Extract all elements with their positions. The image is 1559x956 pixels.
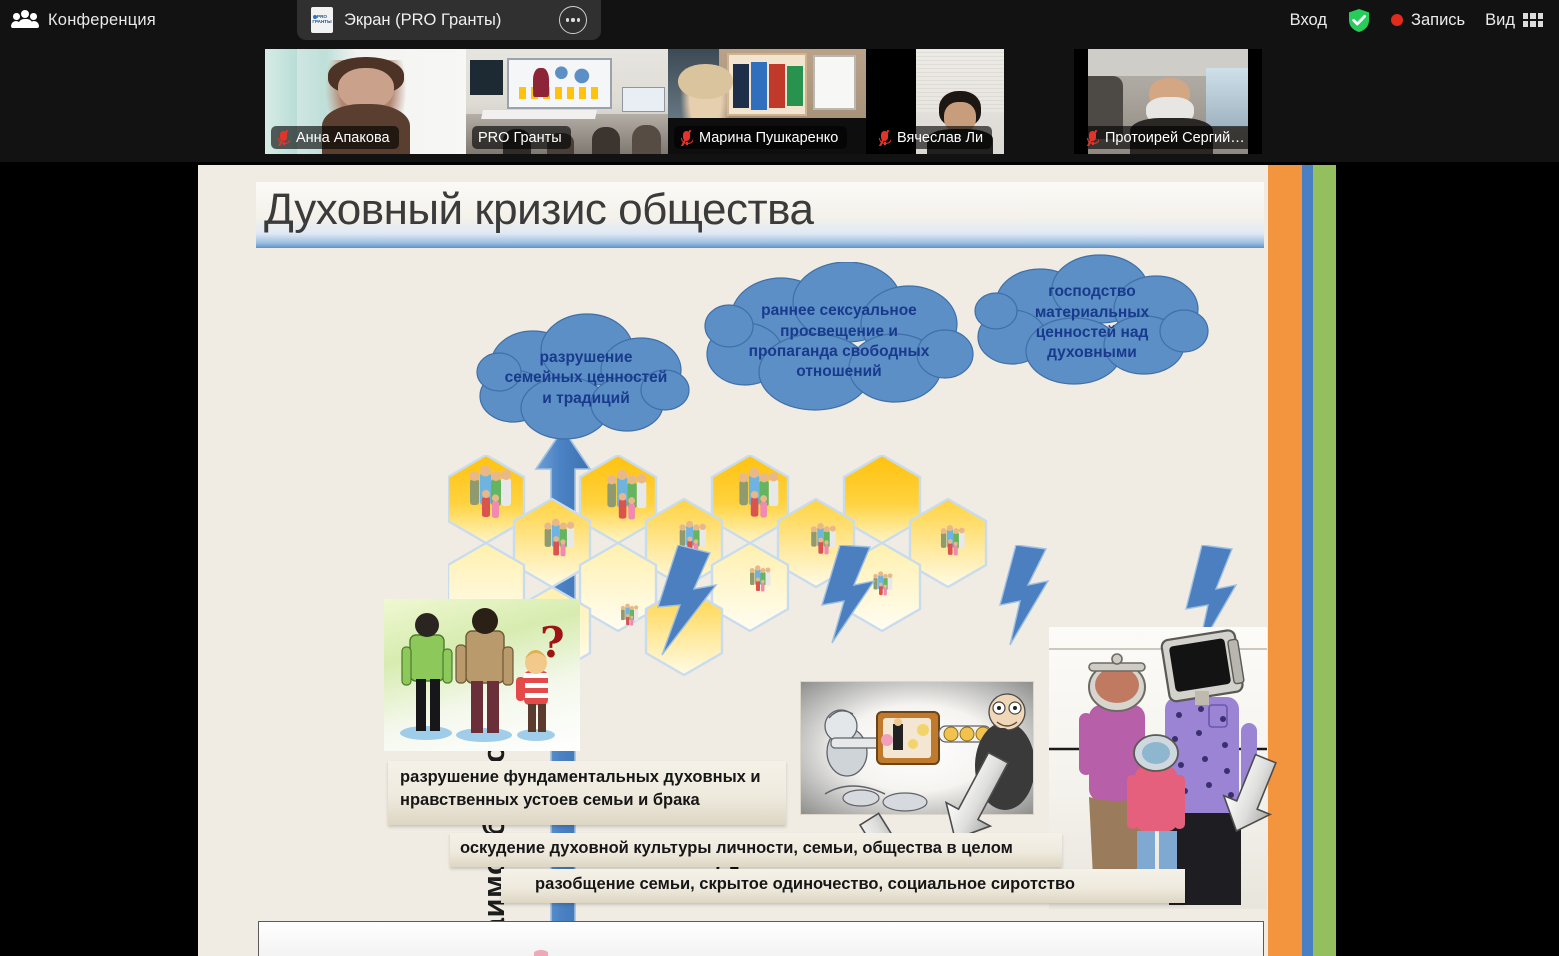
participant-tile-4[interactable]: Протоирей Сергий В…	[1074, 49, 1262, 154]
participant-tile-1[interactable]: PRO Гранты	[466, 49, 669, 154]
record-dot-icon	[1391, 14, 1403, 26]
meeting-label: Конференция	[48, 11, 156, 30]
image-tv-money	[800, 681, 1034, 815]
mic-off-icon	[1086, 130, 1099, 146]
top-toolbar-right: Вход Запись Вид	[1290, 0, 1559, 40]
record-label: Запись	[1411, 11, 1465, 30]
callout-foundations-text: разрушение фундаментальных духовных и нр…	[400, 766, 761, 812]
participant-name-badge-3: Вячеслав Ли	[872, 126, 992, 149]
shield-check-icon	[1347, 8, 1371, 33]
presentation-slide[interactable]: Духовный кризис общества взаимообусловле…	[198, 165, 1336, 956]
mic-off-icon	[680, 130, 693, 146]
cloud-family-values: разрушение семейных ценностей и традиций	[475, 310, 697, 447]
image-two-men-child: ?	[384, 599, 580, 751]
slide-edge-bar-orange	[1268, 165, 1302, 956]
people-icon	[12, 10, 38, 30]
participant-name-3: Вячеслав Ли	[897, 130, 983, 146]
svg-text:?: ?	[540, 618, 565, 667]
share-title: Экран (PRO Гранты)	[344, 11, 501, 30]
login-button[interactable]: Вход	[1290, 11, 1327, 30]
zoom-meeting-window: Конференция PRO ГРАНТЫ Экран (PRO Гранты…	[0, 0, 1559, 956]
view-button[interactable]: Вид	[1485, 11, 1543, 30]
shared-screen-stage: Духовный кризис общества взаимообусловле…	[0, 162, 1559, 956]
participant-name-badge-2: Марина Пушкаренко	[674, 126, 847, 149]
participant-name-0: Анна Апакова	[296, 130, 390, 146]
participant-filmstrip: Анна Апакова PRO Гранты	[0, 40, 1559, 162]
participant-name-badge-0: Анна Апакова	[271, 126, 399, 149]
cloud-family-values-text: разрушение семейных ценностей и традиций	[499, 348, 674, 409]
top-toolbar: Конференция PRO ГРАНТЫ Экран (PRO Гранты…	[0, 0, 1559, 40]
participant-name-badge-1: PRO Гранты	[472, 126, 571, 149]
cloud-sex-education-text: раннее сексуальное просвещение и пропага…	[743, 301, 936, 383]
participant-tile-3[interactable]: Вячеслав Ли	[866, 49, 1004, 154]
participant-tile-0[interactable]: Анна Апакова	[265, 49, 467, 154]
slide-edge-bar-blue	[1302, 165, 1313, 956]
login-label: Вход	[1290, 11, 1327, 30]
participant-tile-2[interactable]: Марина Пушкаренко	[668, 49, 866, 154]
slide-bottom-textbox	[258, 921, 1264, 956]
share-thumbnail-text: PRO ГРАНТЫ	[311, 15, 333, 25]
cursor-marker	[534, 950, 548, 956]
callout-orphanhood-text: разобщение семьи, скрытое одиночество, с…	[535, 873, 1075, 896]
participant-name-4: Протоирей Сергий В…	[1105, 130, 1247, 146]
screen-share-pill[interactable]: PRO ГРАНТЫ Экран (PRO Гранты)	[297, 0, 601, 40]
grid-layout-icon	[1523, 12, 1543, 28]
recording-indicator[interactable]: Запись	[1391, 11, 1465, 30]
cloud-material-values-text: господство материальных ценностей над ду…	[1029, 282, 1155, 364]
participant-name-1: PRO Гранты	[478, 130, 562, 146]
participant-name-badge-4: Протоирей Сергий В…	[1080, 126, 1256, 149]
image-appliance-head-family	[1049, 627, 1267, 909]
slide-edge-bar-green	[1313, 165, 1336, 956]
cloud-sex-education: раннее сексуальное просвещение и пропага…	[703, 262, 975, 422]
view-label: Вид	[1485, 11, 1515, 30]
mic-off-icon	[277, 130, 290, 146]
mic-off-icon	[878, 130, 891, 146]
callout-culture-text: оскудение духовной культуры личности, се…	[460, 837, 1013, 860]
cloud-material-values: господство материальных ценностей над ду…	[974, 253, 1210, 393]
slide-title: Духовный кризис общества	[264, 185, 813, 235]
encryption-status[interactable]	[1347, 8, 1371, 33]
share-thumbnail-icon: PRO ГРАНТЫ	[311, 7, 333, 33]
participant-name-2: Марина Пушкаренко	[699, 130, 838, 146]
ellipsis-icon[interactable]	[559, 6, 587, 34]
meeting-indicator[interactable]: Конференция	[0, 10, 156, 30]
